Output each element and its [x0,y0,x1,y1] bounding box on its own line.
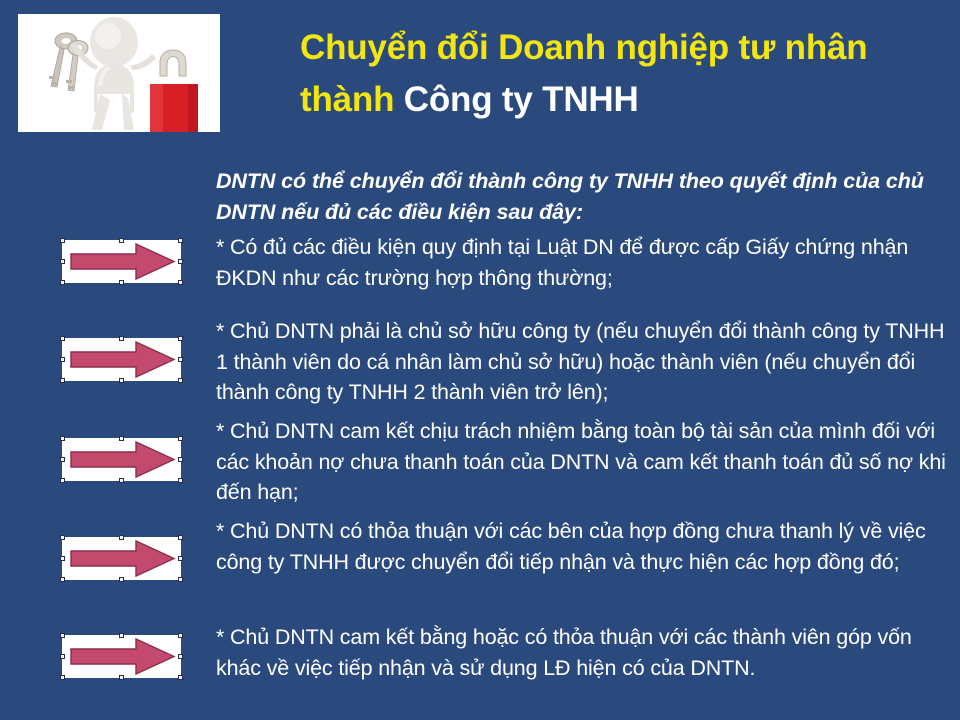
right-arrow-graphic[interactable] [62,537,181,580]
selection-handle[interactable] [60,535,65,540]
title-line-2-text-white: Công ty TNHH [404,80,639,119]
selection-handle[interactable] [60,577,65,582]
selection-handle[interactable] [119,336,124,341]
bullet-text: * Chủ DNTN cam kết chịu trách nhiệm bằng… [216,416,948,508]
selection-handle[interactable] [178,556,183,561]
page-title: Chuyển đổi Doanh nghiệp tư nhân thành Cô… [300,22,950,126]
title-line-2: thành Công ty TNHH [300,74,950,126]
title-line-2-text-yellow: thành [300,80,404,119]
bullet-text: * Chủ DNTN cam kết bằng hoặc có thỏa thu… [216,622,948,683]
selection-handle[interactable] [60,478,65,483]
selection-handle[interactable] [178,280,183,285]
title-line-1: Chuyển đổi Doanh nghiệp tư nhân [300,22,950,74]
selection-handle[interactable] [60,280,65,285]
selection-handle[interactable] [60,357,65,362]
selection-handle[interactable] [119,436,124,441]
selection-handle[interactable] [178,675,183,680]
intro-paragraph: DNTN có thể chuyển đổi thành công ty TNH… [216,166,946,227]
selection-handle[interactable] [60,378,65,383]
selection-handle[interactable] [119,378,124,383]
bullet-text: * Chủ DNTN phải là chủ sở hữu công ty (n… [216,316,948,408]
selection-handle[interactable] [178,633,183,638]
selection-handle[interactable] [178,535,183,540]
selection-handle[interactable] [178,436,183,441]
selection-handle[interactable] [178,478,183,483]
selection-handle[interactable] [119,633,124,638]
person-with-keys-and-padlock-illustration [18,14,220,132]
selection-handle[interactable] [178,378,183,383]
selection-handle[interactable] [119,238,124,243]
title-line-1-text: Chuyển đổi Doanh nghiệp tư nhân [300,28,867,67]
selection-handle[interactable] [178,238,183,243]
selection-handle[interactable] [178,336,183,341]
bullet-text: * Chủ DNTN có thỏa thuận với các bên của… [216,516,948,577]
selection-handle[interactable] [178,577,183,582]
selection-handle[interactable] [60,556,65,561]
right-arrow-graphic[interactable] [62,635,181,678]
selection-handle[interactable] [60,336,65,341]
selection-handle[interactable] [60,633,65,638]
selection-handle[interactable] [178,357,183,362]
selection-handle[interactable] [178,457,183,462]
selection-handle[interactable] [119,535,124,540]
selection-handle[interactable] [119,280,124,285]
selection-handle[interactable] [178,654,183,659]
selection-handle[interactable] [119,478,124,483]
right-arrow-graphic[interactable] [62,240,181,283]
selection-handle[interactable] [60,436,65,441]
selection-handle[interactable] [60,259,65,264]
selection-handle[interactable] [60,238,65,243]
selection-handle[interactable] [60,457,65,462]
selection-handle[interactable] [178,259,183,264]
right-arrow-graphic[interactable] [62,338,181,381]
right-arrow-graphic[interactable] [62,438,181,481]
selection-handle[interactable] [119,577,124,582]
selection-handle[interactable] [60,654,65,659]
bullet-text: * Có đủ các điều kiện quy định tại Luật … [216,232,948,293]
presentation-slide: Chuyển đổi Doanh nghiệp tư nhân thành Cô… [0,0,960,720]
selection-handle[interactable] [60,675,65,680]
selection-handle[interactable] [119,675,124,680]
